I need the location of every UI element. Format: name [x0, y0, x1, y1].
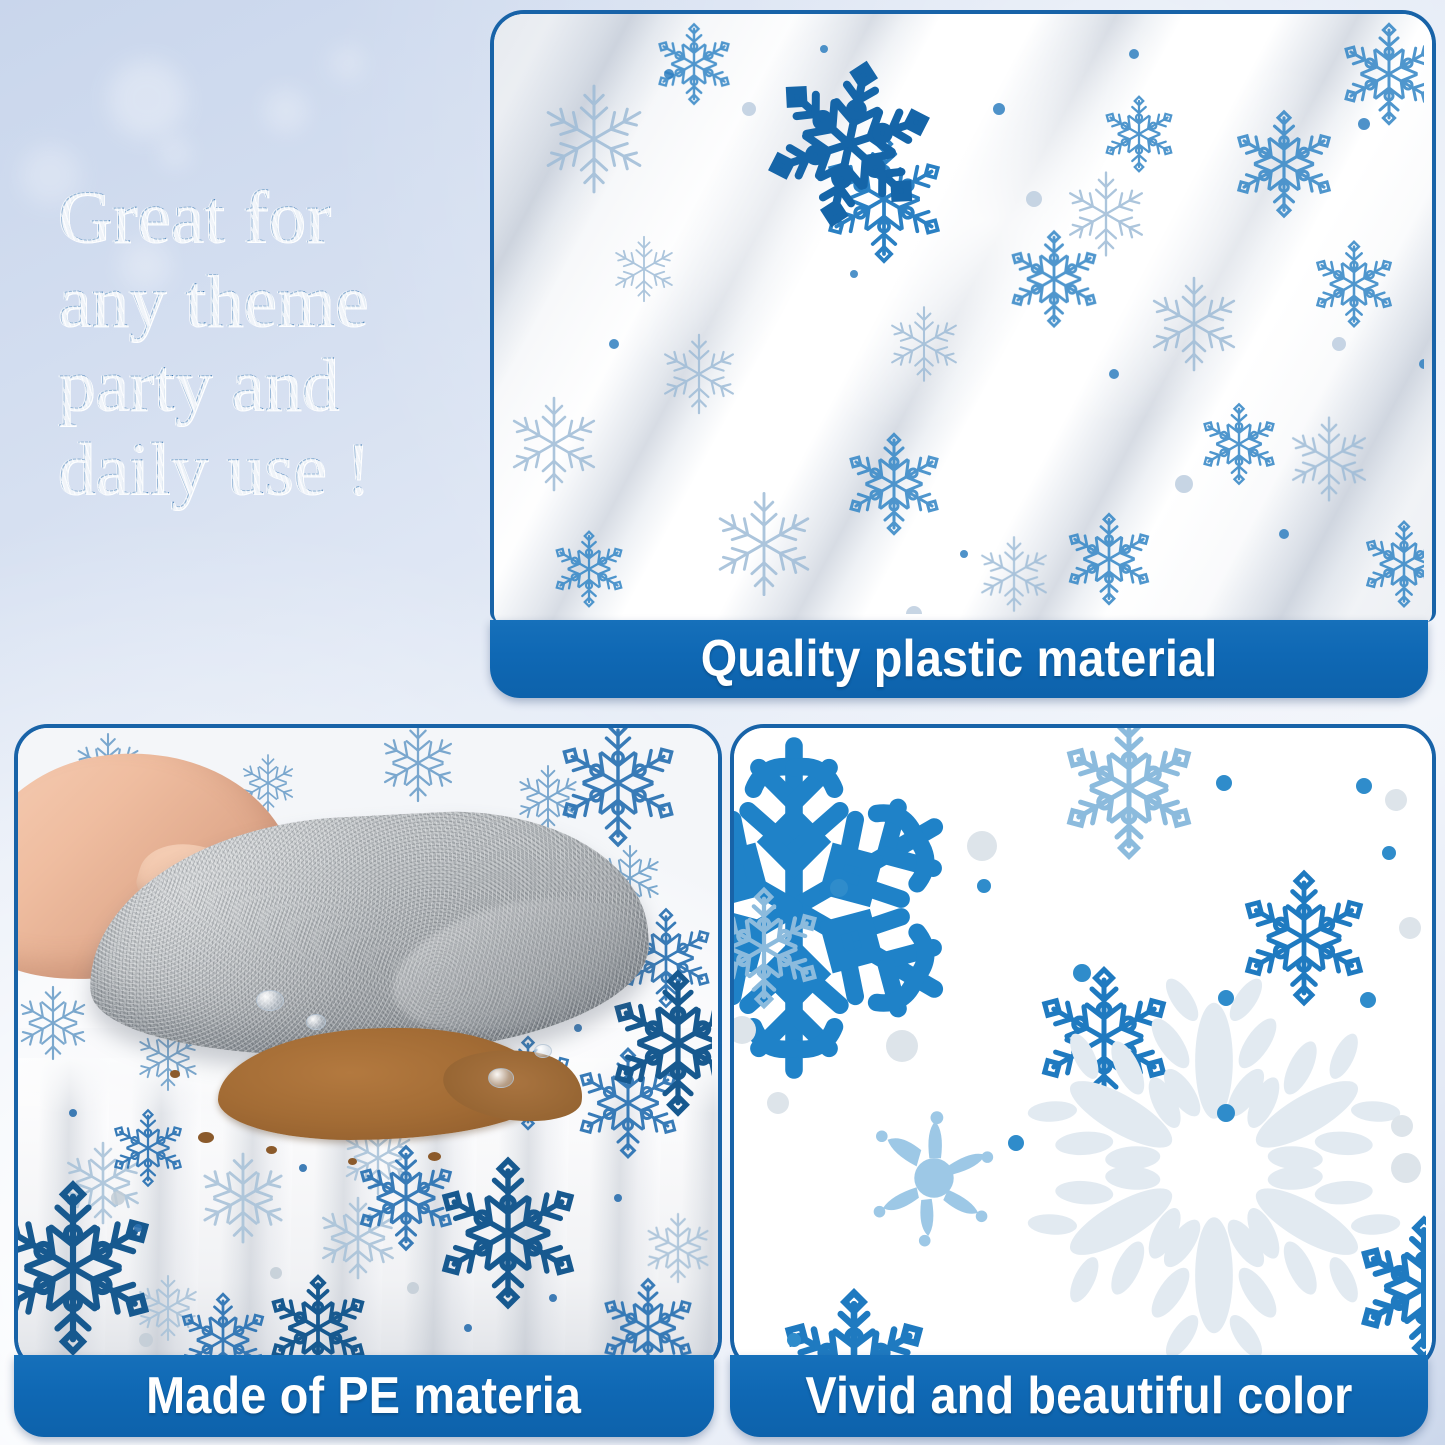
panel-made-of-pe-materia — [14, 724, 722, 1372]
caption-label: Vivid and beautiful color — [805, 1366, 1352, 1426]
water-bubble — [256, 990, 284, 1011]
headline-line-3: party and — [58, 344, 458, 428]
headline-line-4: daily use ! — [58, 428, 458, 512]
water-bubble — [534, 1044, 552, 1058]
bokeh-circle — [265, 90, 307, 132]
product-feature-collage: Great for any theme party and daily use … — [0, 0, 1445, 1445]
water-bubble — [488, 1068, 514, 1088]
bokeh-circle — [108, 60, 186, 138]
bokeh-circle — [160, 138, 190, 168]
water-bubble — [306, 1014, 326, 1030]
coffee-droplet — [198, 1132, 214, 1143]
caption-label: Quality plastic material — [701, 629, 1218, 689]
coffee-droplet — [428, 1152, 441, 1161]
panel-quality-plastic-material — [490, 10, 1436, 622]
caption-vivid-and-beautiful-color: Vivid and beautiful color — [730, 1355, 1428, 1437]
headline-line-1: Great for — [58, 176, 458, 260]
caption-label: Made of PE materia — [147, 1366, 582, 1426]
vivid-white-background — [734, 728, 1432, 1368]
headline-line-2: any theme — [58, 260, 458, 344]
caption-quality-plastic-material: Quality plastic material — [490, 620, 1428, 698]
coffee-droplet — [266, 1146, 277, 1154]
bokeh-circle — [330, 46, 364, 80]
headline-text: Great for any theme party and daily use … — [58, 176, 458, 512]
caption-made-of-pe-materia: Made of PE materia — [14, 1355, 714, 1437]
coffee-droplet — [170, 1070, 180, 1078]
coffee-droplet — [348, 1158, 357, 1165]
sheet-shading — [494, 14, 1432, 622]
panel-vivid-and-beautiful-color — [730, 724, 1436, 1372]
